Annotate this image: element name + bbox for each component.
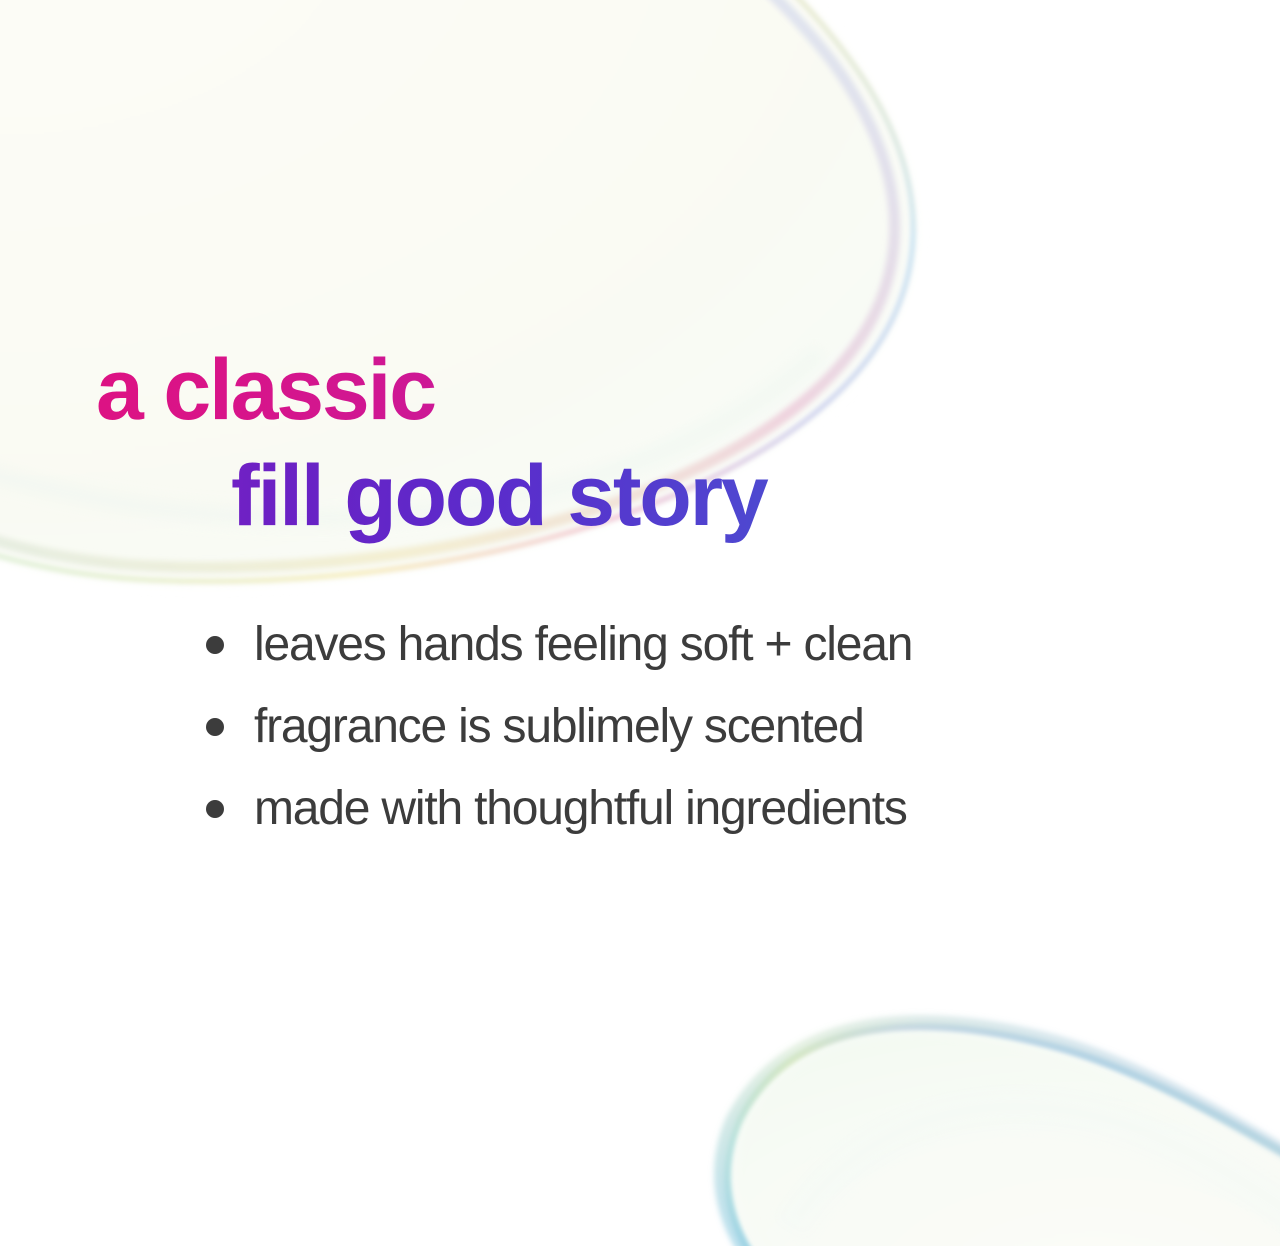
bubble-bottom-right xyxy=(721,1022,1280,1246)
benefit-label: made with thoughtful ingredients xyxy=(254,781,907,837)
list-item: made with thoughtful ingredients xyxy=(0,768,1280,850)
headline: a classic fill good story xyxy=(0,338,1280,548)
list-item: leaves hands feeling soft + clean xyxy=(0,604,1280,686)
promo-graphic: a classic fill good story leaves hands f… xyxy=(0,0,1280,1246)
bullet-icon xyxy=(206,718,224,736)
list-item: fragrance is sublimely scented xyxy=(0,686,1280,768)
benefit-label: fragrance is sublimely scented xyxy=(254,699,864,755)
headline-line-2: fill good story xyxy=(0,444,1280,548)
bullet-icon xyxy=(206,636,224,654)
benefits-list: leaves hands feeling soft + clean fragra… xyxy=(0,604,1280,850)
bullet-icon xyxy=(206,800,224,818)
headline-line-1: a classic xyxy=(0,338,1280,442)
benefit-label: leaves hands feeling soft + clean xyxy=(254,617,912,673)
